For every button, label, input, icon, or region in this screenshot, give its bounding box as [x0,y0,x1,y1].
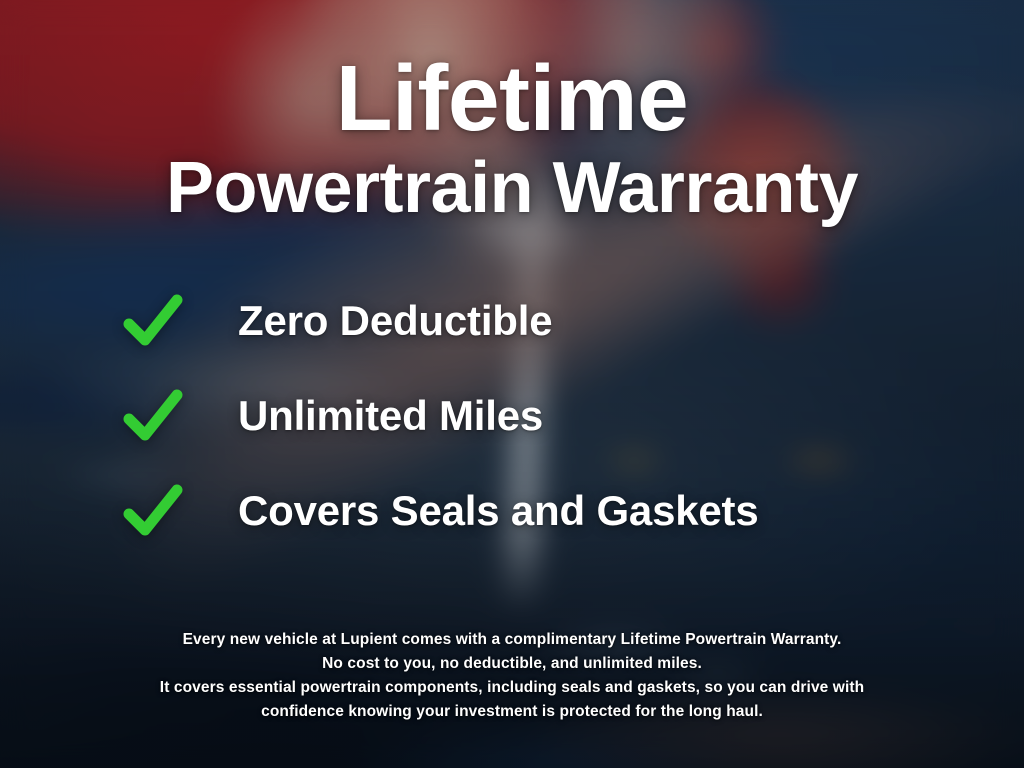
check-icon [122,293,184,349]
page-title-line-2: Powertrain Warranty [0,152,1024,224]
description-line: Every new vehicle at Lupient comes with … [0,628,1024,652]
list-item-label: Zero Deductible [238,297,552,345]
list-item: Unlimited Miles [122,383,759,449]
page-title-line-1: Lifetime [0,52,1024,145]
description-line: confidence knowing your investment is pr… [0,700,1024,724]
list-item: Zero Deductible [122,288,759,354]
list-item-label: Covers Seals and Gaskets [238,487,759,535]
benefits-list: Zero Deductible Unlimited Miles Covers S… [122,288,759,544]
list-item-label: Unlimited Miles [238,392,543,440]
description-line: It covers essential powertrain component… [0,676,1024,700]
warranty-banner: Lifetime Powertrain Warranty Zero Deduct… [0,0,1024,768]
banner-content: Lifetime Powertrain Warranty Zero Deduct… [0,0,1024,768]
list-item: Covers Seals and Gaskets [122,478,759,544]
check-icon [122,483,184,539]
check-icon [122,388,184,444]
description-paragraph: Every new vehicle at Lupient comes with … [0,628,1024,724]
description-line: No cost to you, no deductible, and unlim… [0,652,1024,676]
